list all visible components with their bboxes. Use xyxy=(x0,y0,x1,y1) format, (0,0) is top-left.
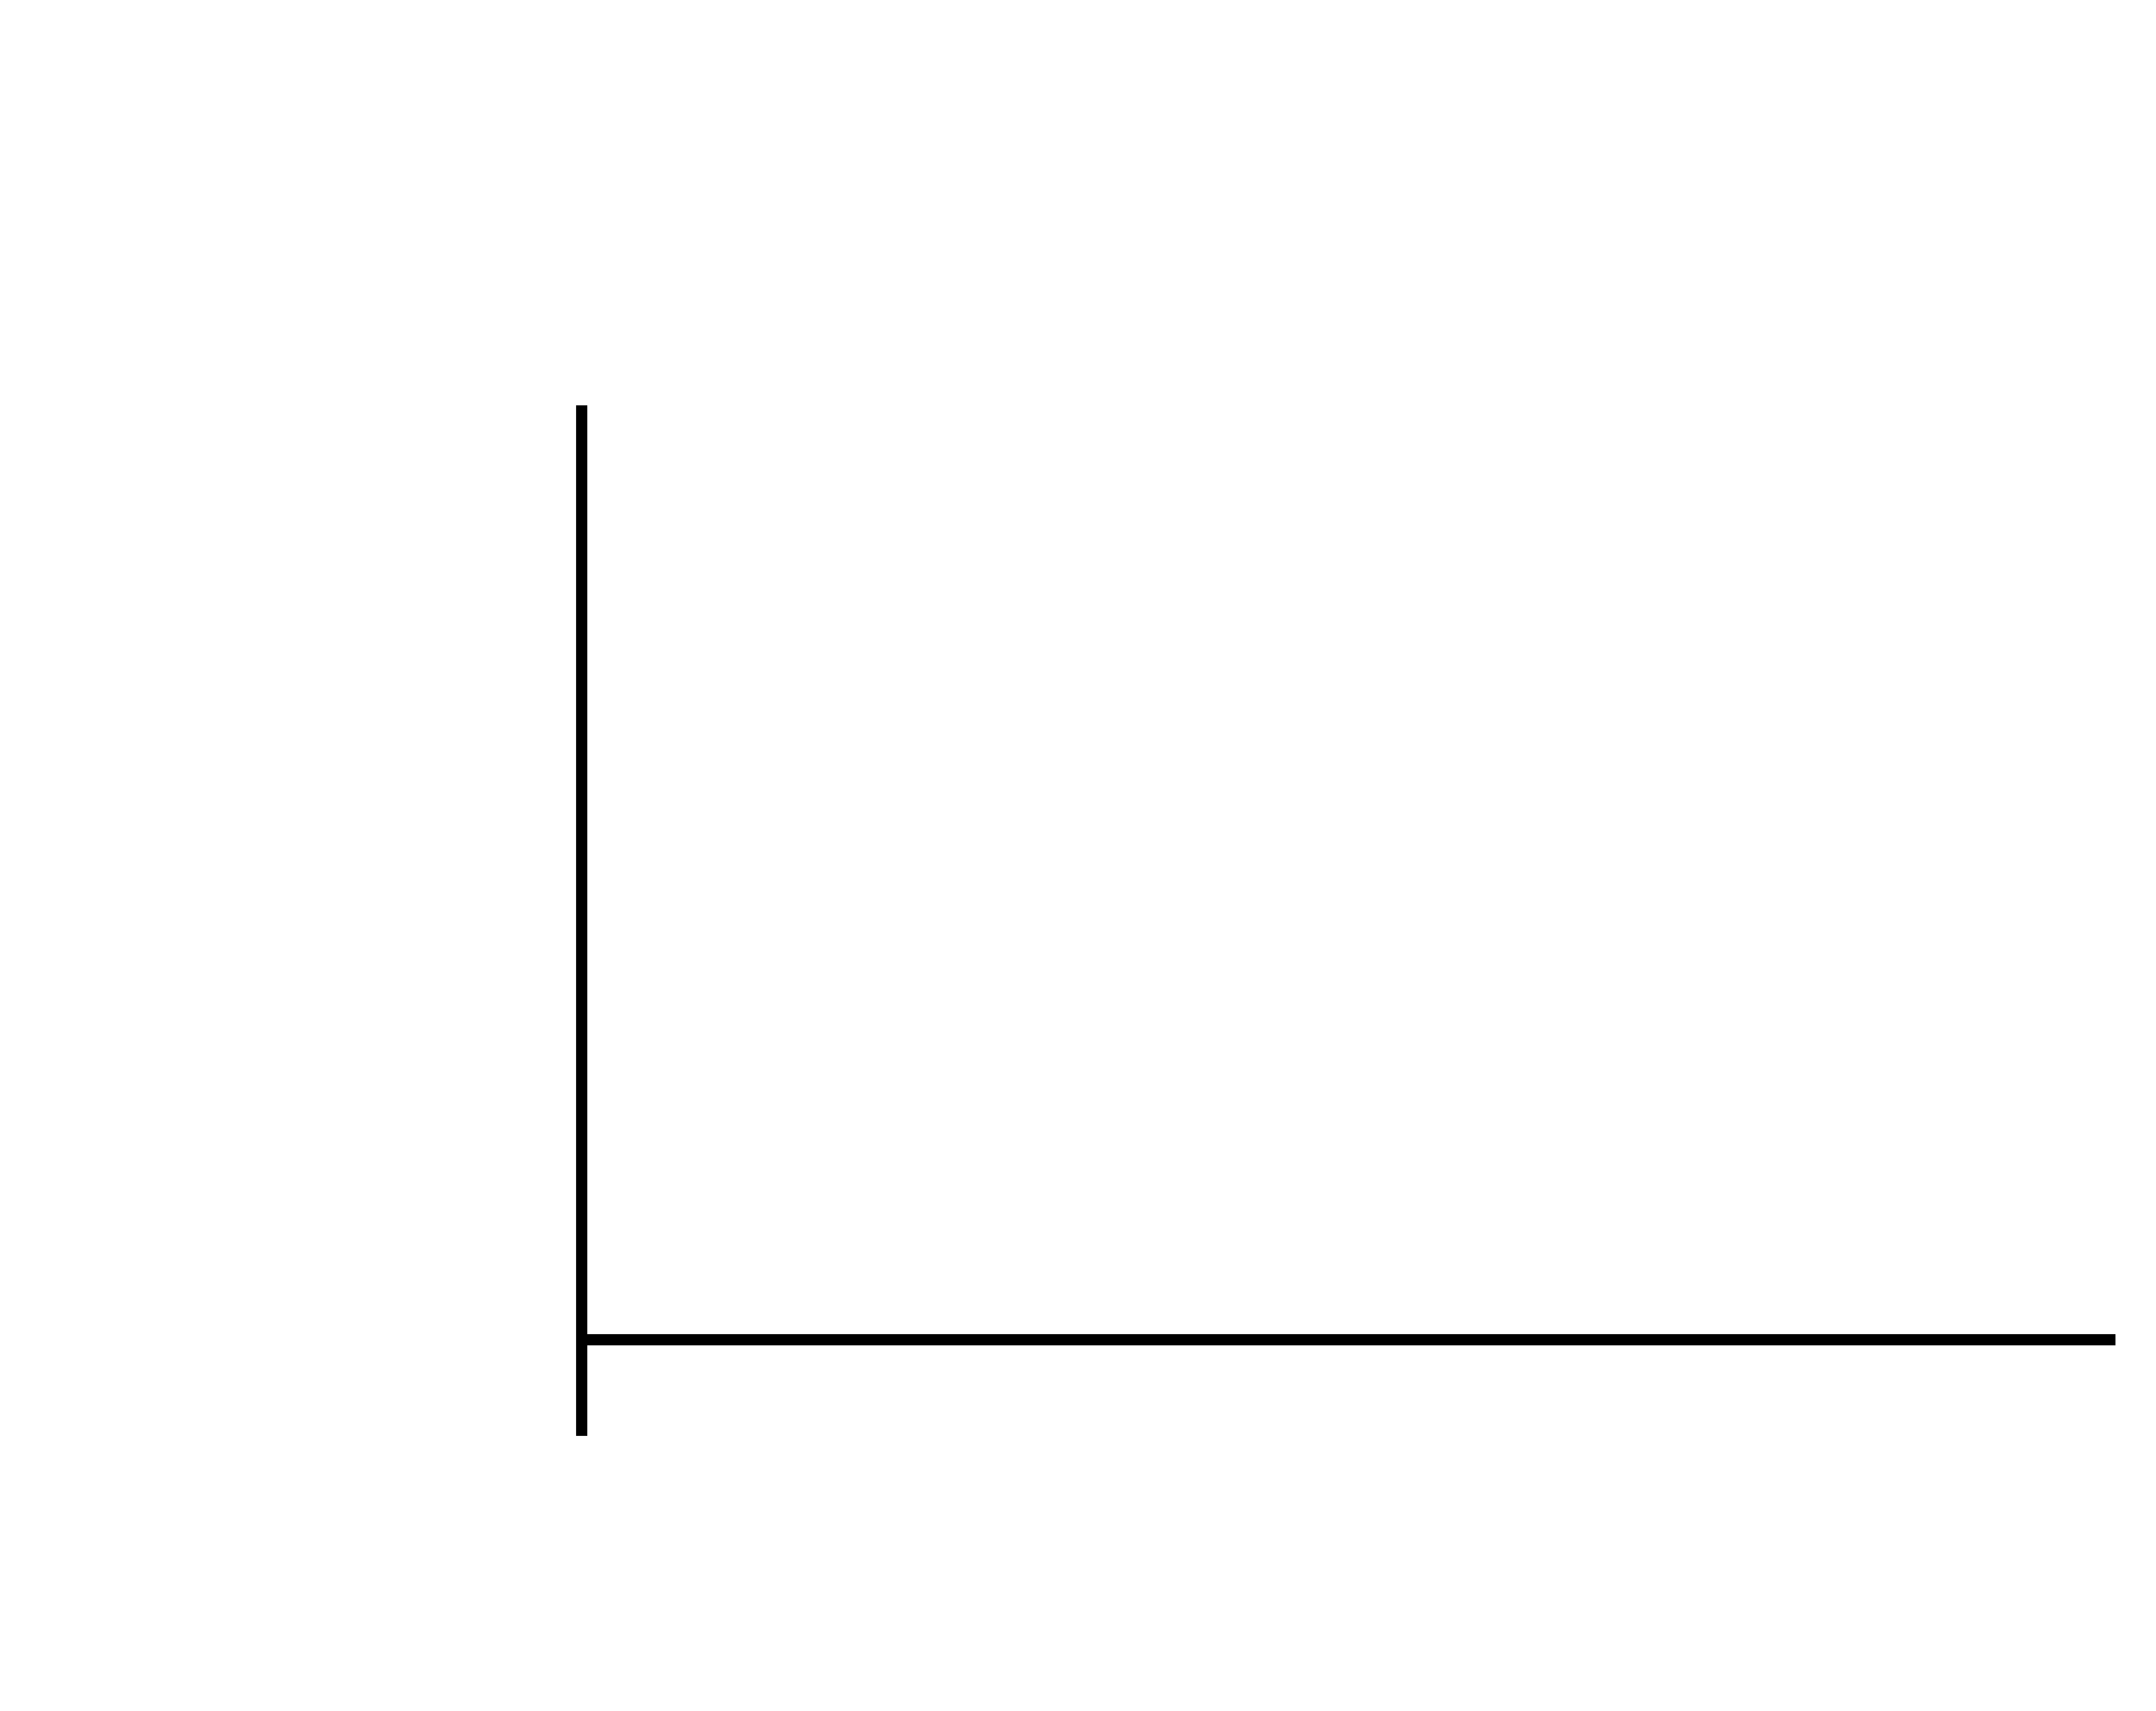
chart-figure xyxy=(0,0,2156,1711)
plot-area xyxy=(0,0,2156,1711)
fit-curve xyxy=(0,0,2156,1711)
